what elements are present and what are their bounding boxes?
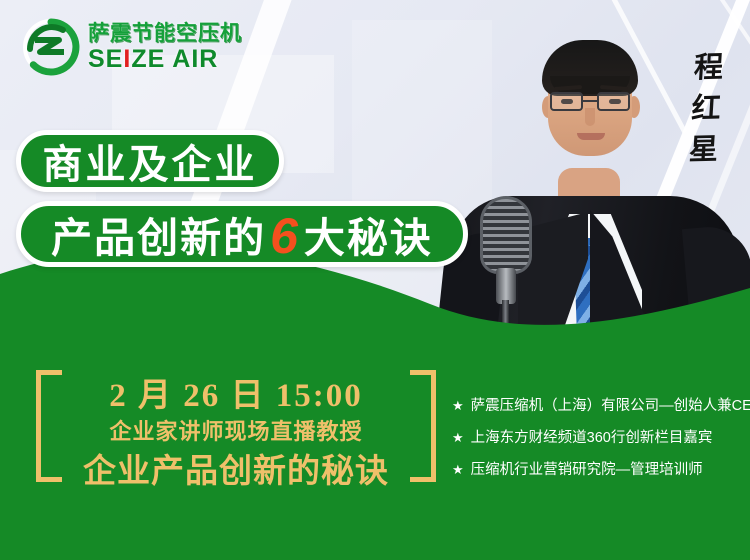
headline-number: 6 xyxy=(266,211,304,261)
list-item: ★ 上海东方财经频道360行创新栏目嘉宾 xyxy=(452,428,742,450)
speaker-name-char-1: 程 xyxy=(685,47,732,89)
credential-text: 上海东方财经频道360行创新栏目嘉宾 xyxy=(471,428,713,450)
brand-en-b: ZE AIR xyxy=(131,45,218,73)
star-icon: ★ xyxy=(452,460,464,481)
brand-name-en: SEIZE AIR xyxy=(88,47,242,72)
headline-line-2-after: 大秘诀 xyxy=(304,204,433,264)
star-icon: ★ xyxy=(452,396,464,417)
list-item: ★ 压缩机行业营销研究院—管理培训师 xyxy=(452,460,742,482)
headline-pill-1: 商业及企业 xyxy=(16,130,284,192)
brand-wordmark: 萨震节能空压机 SEIZE AIR xyxy=(88,23,242,72)
event-datetime: 2 月 26 日 15:00 xyxy=(72,368,400,416)
lens xyxy=(597,92,630,111)
credentials-list: ★ 萨震压缩机（上海）有限公司—创始人兼CEO ★ 上海东方财经频道360行创新… xyxy=(452,396,742,491)
sz-circle-logo-icon xyxy=(22,18,80,76)
credential-text: 萨震压缩机（上海）有限公司—创始人兼CEO xyxy=(471,396,750,418)
event-topic: 企业产品创新的秘诀 xyxy=(62,444,410,492)
bracket-right-decoration xyxy=(410,370,436,482)
lens xyxy=(550,92,583,111)
speaker-name-char-2: 红 xyxy=(683,89,730,131)
event-subtitle: 企业家讲师现场直播教授 xyxy=(72,414,400,446)
headline-line-2-before: 产品创新的 xyxy=(51,204,266,264)
speaker-name-vertical: 程 红 星 xyxy=(680,47,732,172)
brand-name-cn: 萨震节能空压机 xyxy=(88,23,242,44)
star-icon: ★ xyxy=(452,428,464,449)
bridge xyxy=(583,100,597,102)
eyeglasses-icon xyxy=(550,92,632,112)
mouth xyxy=(577,133,605,140)
promo-banner: 萨震节能空压机 SEIZE AIR 商业及企业 产品创新的6大秘诀 程 红 星 … xyxy=(0,0,750,560)
headline-line-1: 商业及企业 xyxy=(43,132,258,190)
headline-pill-2: 产品创新的6大秘诀 xyxy=(16,201,468,267)
bracket-left-decoration xyxy=(36,370,62,482)
brand-en-a: SE xyxy=(88,45,123,73)
list-item: ★ 萨震压缩机（上海）有限公司—创始人兼CEO xyxy=(452,396,742,418)
credential-text: 压缩机行业营销研究院—管理培训师 xyxy=(471,460,703,482)
speaker-name-char-3: 星 xyxy=(680,130,727,172)
brand-logo[interactable]: 萨震节能空压机 SEIZE AIR xyxy=(22,18,242,76)
event-info-block: 2 月 26 日 15:00 企业家讲师现场直播教授 企业产品创新的秘诀 xyxy=(36,360,436,490)
